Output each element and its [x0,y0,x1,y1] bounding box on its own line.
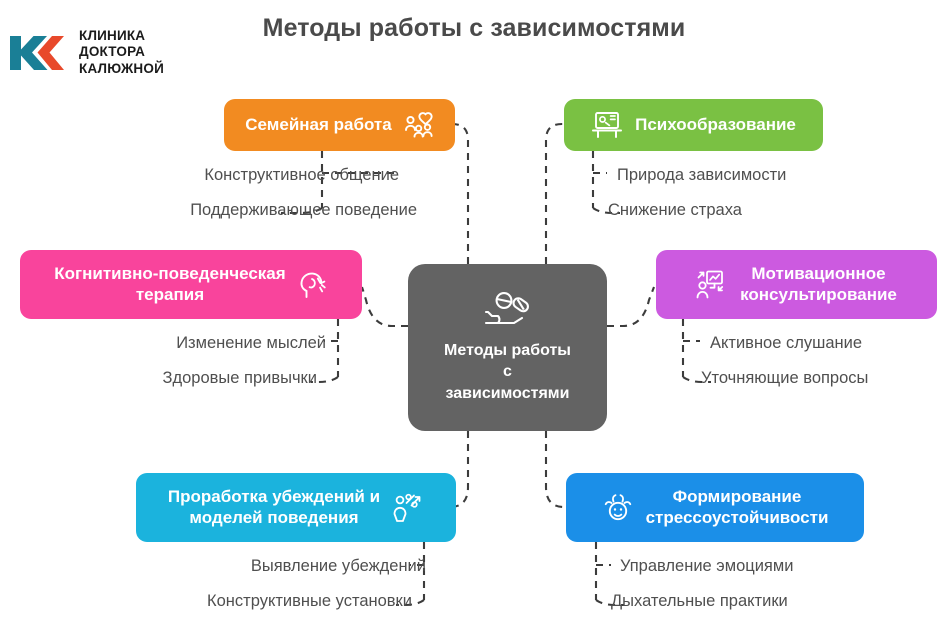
branch-stress-item-2: Дыхательные практики [611,592,788,611]
branch-family-title: Семейная работа [245,115,391,136]
branch-family-item-1: Конструктивное общение [204,166,399,185]
person-percent-arrow-icon [392,493,424,523]
branch-node-motivation[interactable]: Мотивационное консультирование [656,250,937,319]
person-chart-arrows-icon [696,270,728,300]
branch-motivation-title: Мотивационное консультирование [740,264,897,305]
head-brain-icon [298,270,328,300]
branch-beliefs-title: Проработка убеждений и моделей поведения [168,487,380,528]
branch-stress-item-1: Управление эмоциями [620,557,793,576]
brand-line-2: ДОКТОРА [79,44,164,60]
presentation-board-icon [591,111,623,139]
branch-beliefs-title-line-2: моделей поведения [189,508,358,527]
page-title: Методы работы с зависимостями [224,14,724,43]
infographic-canvas: КЛИНИКА ДОКТОРА КАЛЮЖНОЙ Методы работы с… [0,0,948,634]
center-node[interactable]: Методы работы с зависимостями [408,264,607,431]
branch-motivation-item-1: Активное слушание [710,334,862,353]
branch-node-stress[interactable]: Формирование стрессоустойчивости [566,473,864,542]
center-label-line-2: с [444,361,571,382]
branch-stress-title: Формирование стрессоустойчивости [646,487,829,528]
branch-beliefs-item-1: Выявление убеждений [251,557,426,576]
branch-family-item-2: Поддерживающее поведение [190,201,417,220]
branch-cbt-title: Когнитивно-поведенческая терапия [54,264,285,305]
brand-line-3: КАЛЮЖНОЙ [79,61,164,77]
branch-node-beliefs[interactable]: Проработка убеждений и моделей поведения [136,473,456,542]
center-label-line-1: Методы работы [444,340,571,361]
branch-motivation-item-2: Уточняющие вопросы [701,369,868,388]
branch-beliefs-title-line-1: Проработка убеждений и [168,487,380,506]
branch-psychoeducation-item-2: Снижение страха [608,201,742,220]
branch-stress-title-line-2: стрессоустойчивости [646,508,829,527]
branch-stress-title-line-1: Формирование [673,487,802,506]
branch-psychoeducation-title: Психообразование [635,115,796,136]
brand-line-1: КЛИНИКА [79,28,164,44]
branch-cbt-title-line-2: терапия [136,285,204,304]
branch-node-psychoeducation[interactable]: Психообразование [564,99,823,151]
branch-node-cbt[interactable]: Когнитивно-поведенческая терапия [20,250,362,319]
stressed-head-icon [602,493,634,523]
branch-node-family[interactable]: Семейная работа [224,99,455,151]
brand-logo: КЛИНИКА ДОКТОРА КАЛЮЖНОЙ [8,28,164,77]
hand-holding-pills-icon [482,291,534,331]
connector-center-motivation [607,287,654,326]
branch-beliefs-item-2: Конструктивные установки [207,592,412,611]
brand-logo-text: КЛИНИКА ДОКТОРА КАЛЮЖНОЙ [79,28,164,77]
branch-cbt-item-2: Здоровые привычки [163,369,318,388]
branch-motivation-title-line-1: Мотивационное [751,264,885,283]
branch-psychoeducation-item-1: Природа зависимости [617,166,786,185]
connector-center-cbt [362,287,408,326]
family-heart-icon [404,112,434,138]
center-label-line-3: зависимостями [444,383,571,404]
kk-monogram-icon [8,33,70,73]
branch-cbt-item-1: Изменение мыслей [176,334,326,353]
branch-cbt-title-line-1: Когнитивно-поведенческая [54,264,285,283]
branch-motivation-title-line-2: консультирование [740,285,897,304]
center-node-label: Методы работы с зависимостями [444,340,571,404]
